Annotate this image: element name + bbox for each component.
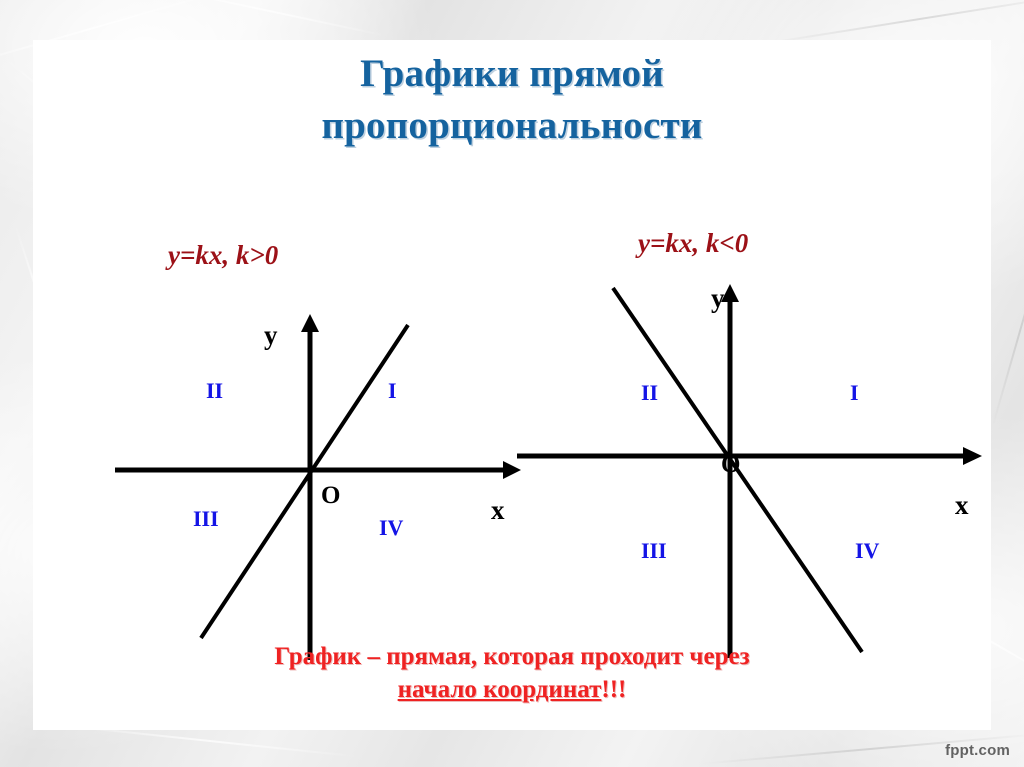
proportional-line-positive xyxy=(201,325,408,638)
quadrant-label-ii: II xyxy=(641,380,658,406)
summary-note-line-2: начало координат!!! xyxy=(33,673,991,706)
summary-note-exclamation: !!! xyxy=(601,676,626,703)
summary-note: График – прямая, которая проходит через … xyxy=(33,640,991,706)
paper-crease xyxy=(133,0,388,37)
x-axis-arrow-icon xyxy=(963,447,982,465)
graph-negative-slope-svg xyxy=(503,255,1003,675)
quadrant-label-iii: III xyxy=(193,506,219,532)
summary-note-line-1: График – прямая, которая проходит через xyxy=(33,640,991,673)
y-axis-label: y xyxy=(711,283,725,314)
origin-label: O xyxy=(321,482,340,510)
graph-positive-slope: y x O I II III IV xyxy=(66,270,536,680)
page-title-line-2: пропорциональности xyxy=(33,100,991,152)
quadrant-label-i: I xyxy=(388,378,397,404)
quadrant-label-iii: III xyxy=(641,538,667,564)
quadrant-label-iv: IV xyxy=(379,515,403,541)
x-axis-label: x xyxy=(955,490,969,521)
content-card: Графики прямой пропорциональности y=kx, … xyxy=(33,40,991,730)
quadrant-label-i: I xyxy=(850,380,859,406)
origin-label: O xyxy=(721,451,740,479)
graph-negative-slope: y x O I II III IV xyxy=(503,255,1003,675)
watermark: fppt.com xyxy=(945,742,1010,759)
slide-root: Графики прямой пропорциональности y=kx, … xyxy=(0,0,1024,767)
paper-crease xyxy=(762,0,1024,45)
page-title: Графики прямой пропорциональности xyxy=(33,48,991,152)
summary-note-underlined: начало координат xyxy=(398,676,602,703)
quadrant-label-iv: IV xyxy=(855,538,879,564)
page-title-line-1: Графики прямой xyxy=(33,48,991,100)
formula-label-positive-k: y=kx, k>0 xyxy=(168,240,278,271)
y-axis-label: y xyxy=(264,320,278,351)
graph-positive-slope-svg xyxy=(66,270,536,680)
y-axis-arrow-icon xyxy=(301,314,319,332)
quadrant-label-ii: II xyxy=(206,378,223,404)
